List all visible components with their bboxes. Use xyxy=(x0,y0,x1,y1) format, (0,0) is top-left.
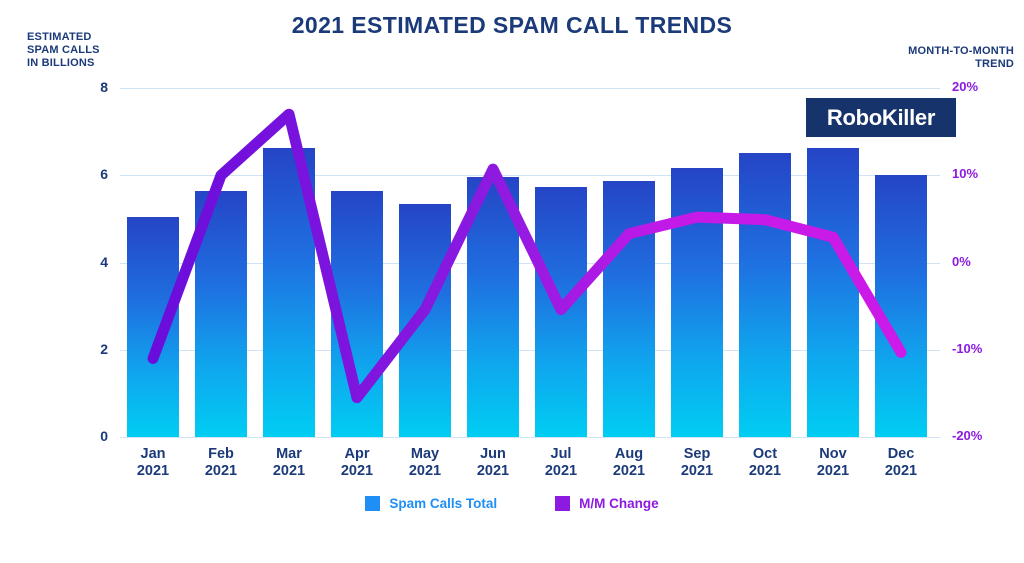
x-axis-labels: Jan2021Feb2021Mar2021Apr2021May2021Jun20… xyxy=(120,446,940,492)
caption-line: MONTH-TO-MONTH xyxy=(854,45,1014,58)
legend-item[interactable]: Spam Calls Total xyxy=(365,496,497,511)
x-tick-label: May2021 xyxy=(391,446,459,480)
legend-swatch xyxy=(555,496,570,511)
x-tick-line: 2021 xyxy=(799,463,867,480)
x-tick-label: Mar2021 xyxy=(255,446,323,480)
chart-legend: Spam Calls TotalM/M Change xyxy=(0,496,1024,511)
x-tick-line: Jan xyxy=(119,446,187,463)
x-tick-label: Apr2021 xyxy=(323,446,391,480)
x-tick-line: 2021 xyxy=(391,463,459,480)
legend-item[interactable]: M/M Change xyxy=(555,496,659,511)
caption-line: TREND xyxy=(854,58,1014,71)
x-tick-line: 2021 xyxy=(527,463,595,480)
y-tick-left: 2 xyxy=(68,341,108,357)
y-tick-left: 4 xyxy=(68,254,108,270)
x-tick-label: Aug2021 xyxy=(595,446,663,480)
x-tick-line: 2021 xyxy=(663,463,731,480)
legend-swatch xyxy=(365,496,380,511)
x-tick-label: Sep2021 xyxy=(663,446,731,480)
x-tick-line: 2021 xyxy=(867,463,935,480)
caption-line: IN BILLIONS xyxy=(27,57,137,70)
x-tick-line: Mar xyxy=(255,446,323,463)
x-tick-line: Oct xyxy=(731,446,799,463)
x-tick-label: Dec2021 xyxy=(867,446,935,480)
y-tick-left: 0 xyxy=(68,428,108,444)
x-tick-label: Jul2021 xyxy=(527,446,595,480)
x-tick-line: 2021 xyxy=(255,463,323,480)
x-tick-line: 2021 xyxy=(459,463,527,480)
caption-line: ESTIMATED xyxy=(27,31,137,44)
chart-canvas: 2021 ESTIMATED SPAM CALL TRENDS ESTIMATE… xyxy=(0,0,1024,563)
x-tick-label: Oct2021 xyxy=(731,446,799,480)
x-tick-label: Feb2021 xyxy=(187,446,255,480)
y-tick-right: -20% xyxy=(952,428,1012,443)
caption-line: SPAM CALLS xyxy=(27,44,137,57)
x-tick-line: 2021 xyxy=(731,463,799,480)
x-tick-label: Jun2021 xyxy=(459,446,527,480)
x-tick-line: Apr xyxy=(323,446,391,463)
line-series xyxy=(120,88,940,437)
x-tick-line: May xyxy=(391,446,459,463)
x-tick-line: Jul xyxy=(527,446,595,463)
legend-label: Spam Calls Total xyxy=(389,496,497,511)
x-tick-line: Jun xyxy=(459,446,527,463)
x-tick-label: Nov2021 xyxy=(799,446,867,480)
x-tick-line: 2021 xyxy=(187,463,255,480)
x-tick-line: 2021 xyxy=(119,463,187,480)
y-tick-left: 8 xyxy=(68,79,108,95)
y-tick-left: 6 xyxy=(68,166,108,182)
x-tick-line: Sep xyxy=(663,446,731,463)
y-tick-right: 10% xyxy=(952,166,1012,181)
left-axis-caption: ESTIMATEDSPAM CALLSIN BILLIONS xyxy=(27,31,137,70)
page-title: 2021 ESTIMATED SPAM CALL TRENDS xyxy=(0,12,1024,39)
trend-line xyxy=(153,114,901,398)
x-tick-line: Aug xyxy=(595,446,663,463)
x-tick-label: Jan2021 xyxy=(119,446,187,480)
plot-area xyxy=(120,88,940,437)
right-axis-caption: MONTH-TO-MONTHTREND xyxy=(854,45,1014,71)
y-tick-right: 0% xyxy=(952,254,1012,269)
x-tick-line: Feb xyxy=(187,446,255,463)
y-tick-right: -10% xyxy=(952,341,1012,356)
x-tick-line: 2021 xyxy=(323,463,391,480)
x-tick-line: Nov xyxy=(799,446,867,463)
legend-label: M/M Change xyxy=(579,496,659,511)
x-tick-line: Dec xyxy=(867,446,935,463)
y-tick-right: 20% xyxy=(952,79,1012,94)
gridline xyxy=(120,437,940,438)
x-tick-line: 2021 xyxy=(595,463,663,480)
